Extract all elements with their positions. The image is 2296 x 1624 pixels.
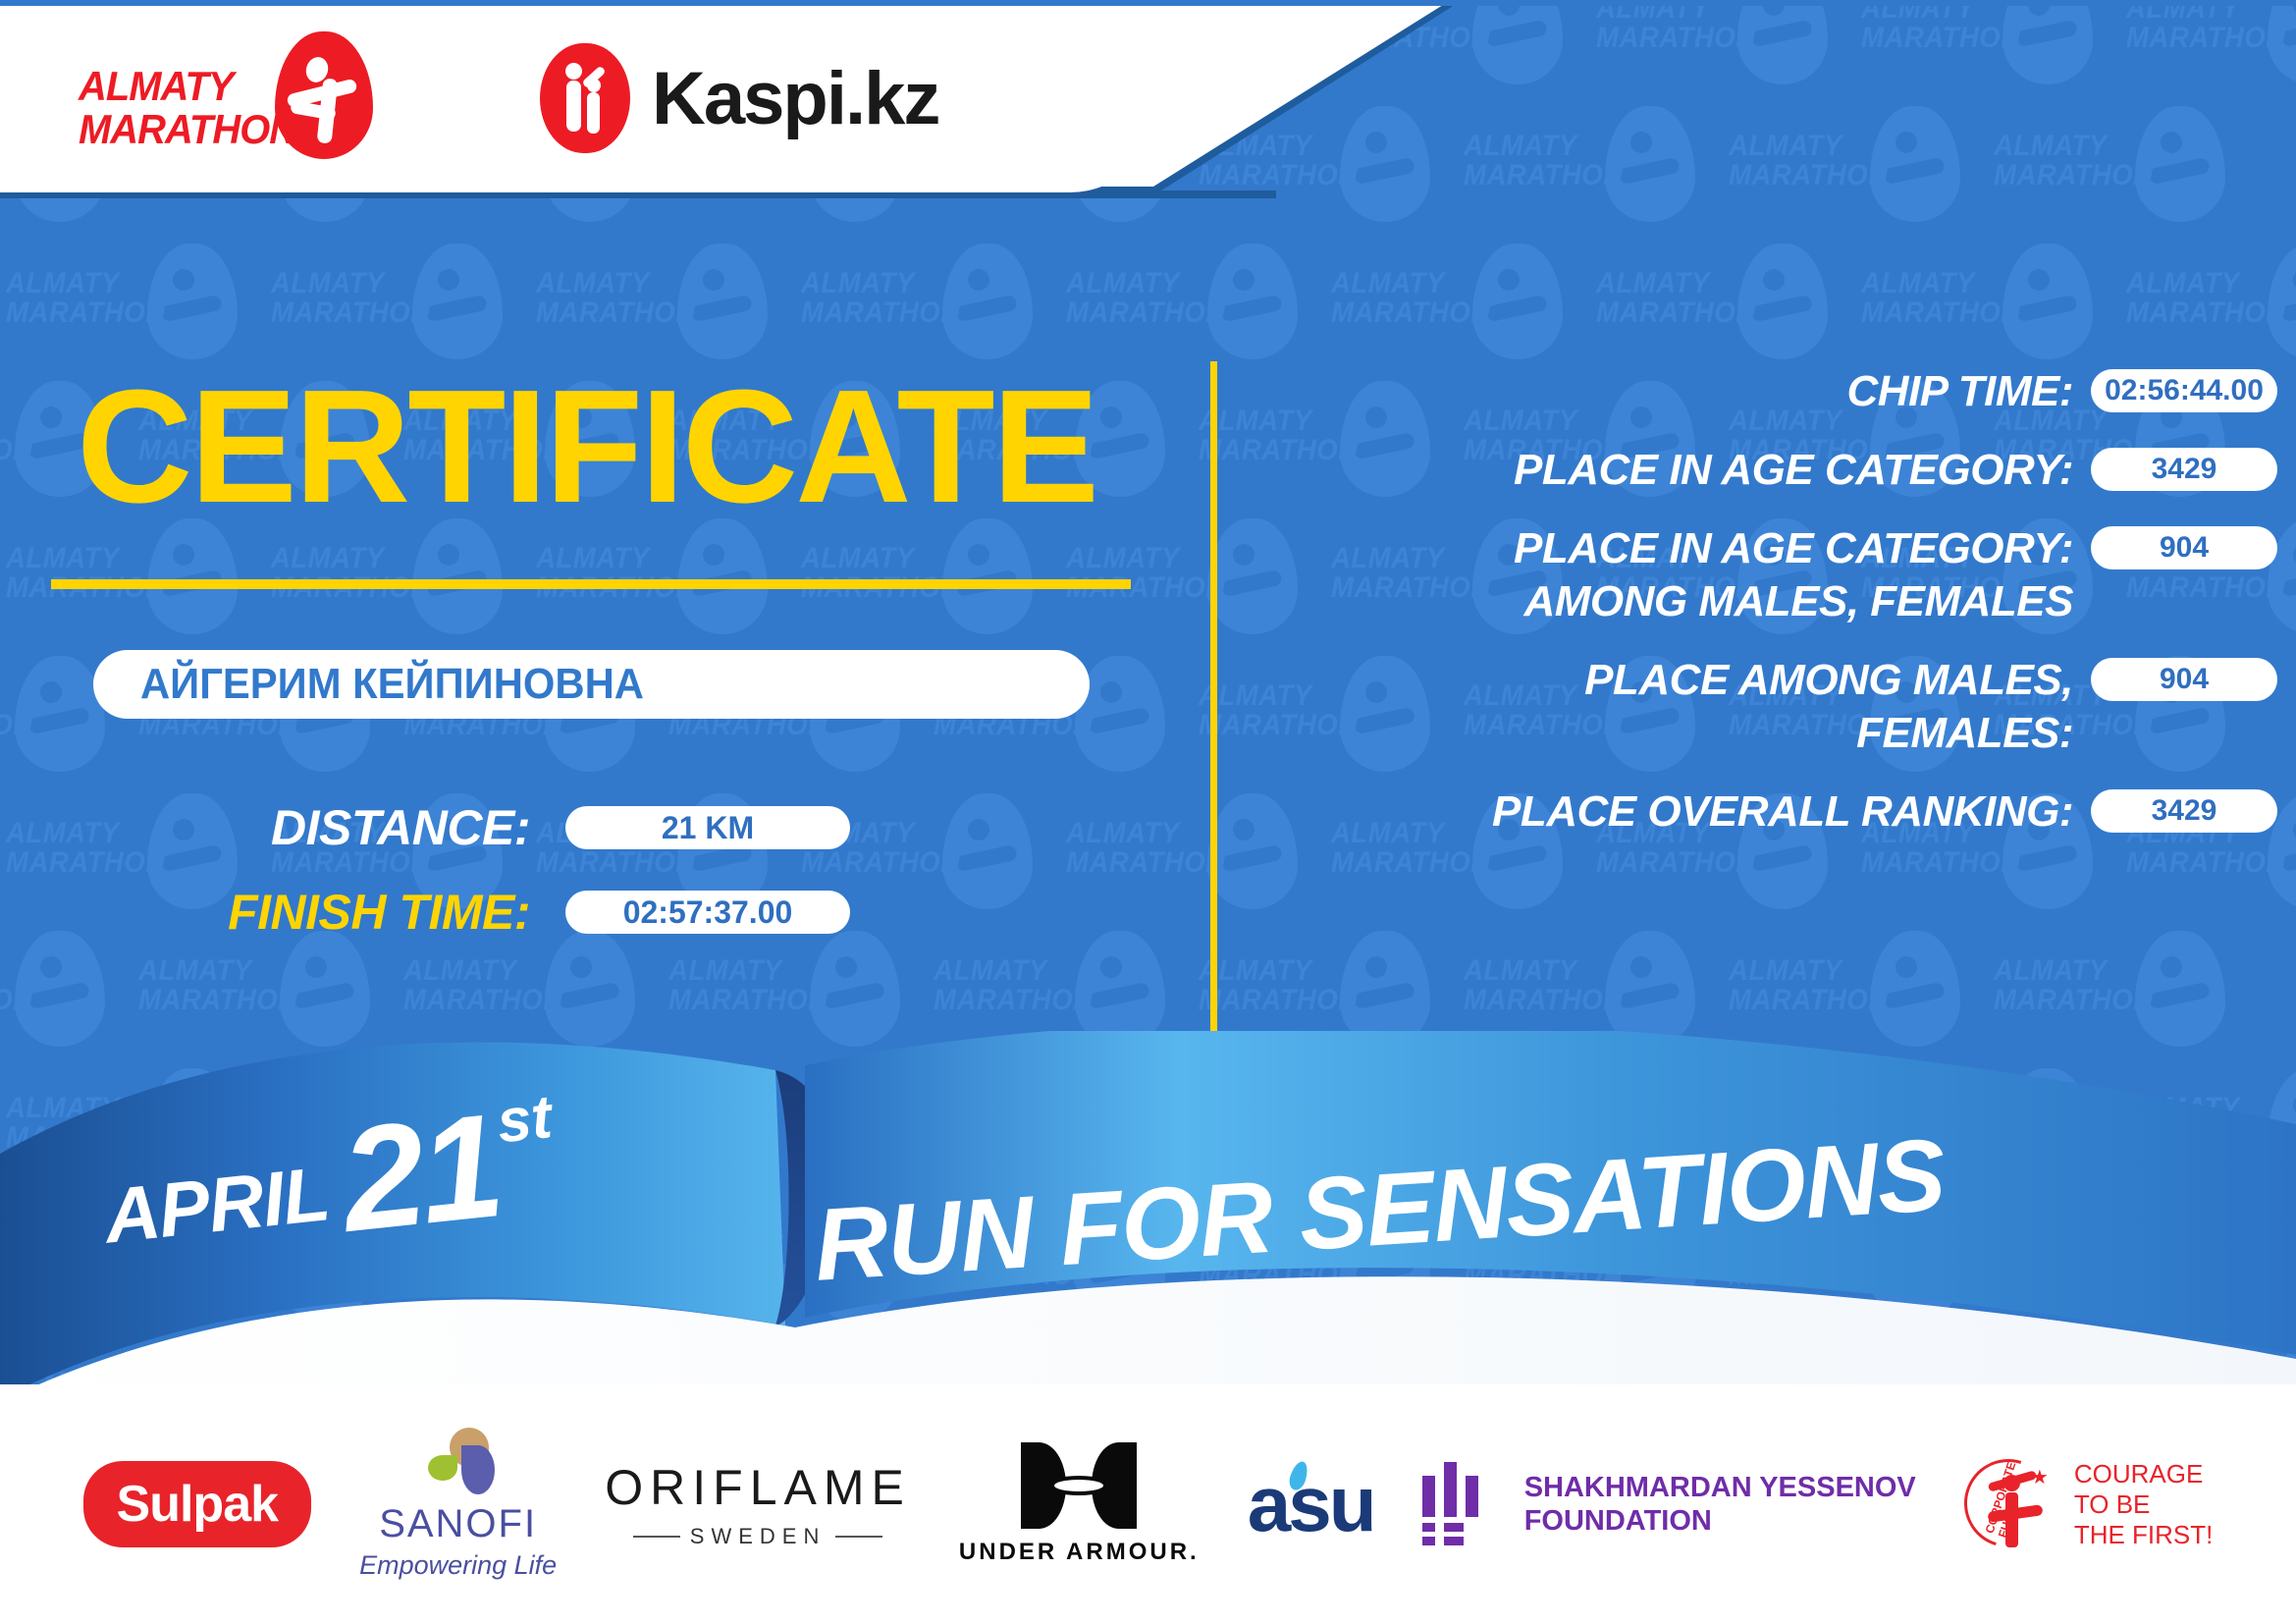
oriflame-rule-right: [835, 1536, 882, 1538]
sponsor-sanofi: SANOFI Empowering Life: [359, 1428, 557, 1581]
courage-line3: THE FIRST!: [2074, 1520, 2214, 1550]
result-label: PLACE OVERALL RANKING:: [1237, 785, 2091, 839]
sanofi-tagline: Empowering Life: [359, 1550, 557, 1581]
page-title: CERTIFICATE: [77, 373, 1096, 520]
courage-fund-icon: CORPORATE FUND ★: [1964, 1453, 2062, 1555]
result-row: PLACE IN AGE CATEGORY:3429: [1237, 444, 2277, 497]
finish-time-value: 02:57:37.00: [565, 891, 850, 934]
oriflame-wordmark: ORIFLAME: [605, 1459, 911, 1516]
asu-text: asu: [1248, 1460, 1374, 1547]
result-row: CHIP TIME:02:56:44.00: [1237, 365, 2277, 418]
certificate-body: CERTIFICATE АЙГЕРИМ КЕЙПИНОВНА DISTANCE:…: [0, 0, 2296, 1624]
finish-time-label: FINISH TIME:: [0, 884, 530, 941]
kaspi-wordmark: Kaspi.kz: [652, 56, 938, 141]
result-label-line1: PLACE AMONG MALES,: [1584, 656, 2073, 704]
sponsor-sulpak: Sulpak: [83, 1461, 312, 1547]
left-stats: DISTANCE: 21 KM FINISH TIME: 02:57:37.00: [0, 785, 991, 954]
sponsor-yessenov: SHAKHMARDAN YESSENOV FOUNDATION: [1422, 1460, 1916, 1548]
result-value: 904: [2091, 526, 2277, 569]
result-row: PLACE OVERALL RANKING:3429: [1237, 785, 2277, 839]
header-top-strip: [0, 0, 2296, 6]
marathon-line: MARATHON: [79, 108, 296, 151]
result-label: PLACE IN AGE CATEGORY:: [1237, 444, 2091, 497]
header-logos: ALMATY MARATHON Kaspi.kz: [79, 39, 938, 157]
distance-row: DISTANCE: 21 KM: [0, 785, 991, 870]
result-label-line1: PLACE IN AGE CATEGORY:: [1514, 524, 2073, 572]
oriflame-subline: SWEDEN: [605, 1524, 911, 1549]
result-row: PLACE AMONG MALES,FEMALES:904: [1237, 654, 2277, 760]
results-list: CHIP TIME:02:56:44.00PLACE IN AGE CATEGO…: [1237, 365, 2277, 864]
result-value: 02:56:44.00: [2091, 369, 2277, 412]
almaty-line: ALMATY: [79, 65, 296, 108]
under-armour-icon: [1021, 1442, 1137, 1529]
oriflame-tagline: SWEDEN: [690, 1524, 827, 1549]
sanofi-icon: [422, 1428, 495, 1496]
almaty-marathon-logo: ALMATY MARATHON: [79, 39, 383, 157]
asu-wordmark: asu: [1248, 1459, 1374, 1549]
distance-value: 21 KM: [565, 806, 850, 849]
sponsor-asu: asu: [1248, 1459, 1374, 1549]
distance-label: DISTANCE:: [0, 799, 530, 856]
result-label-line2: FEMALES:: [1237, 707, 2073, 760]
result-value: 3429: [2091, 448, 2277, 491]
result-label-line2: AMONG MALES, FEMALES: [1237, 575, 2073, 628]
sponsor-courage-fund: CORPORATE FUND ★ COURAGE TO BE THE FIRST…: [1964, 1453, 2214, 1555]
result-label-line1: PLACE OVERALL RANKING:: [1492, 787, 2073, 836]
yessenov-icon: [1422, 1460, 1499, 1548]
yessenov-wordmark: SHAKHMARDAN YESSENOV FOUNDATION: [1524, 1471, 1916, 1538]
courage-line2: TO BE: [2074, 1489, 2214, 1520]
kaspi-people-icon: [540, 43, 630, 153]
title-underline: [51, 579, 1131, 589]
result-row: PLACE IN AGE CATEGORY:AMONG MALES, FEMAL…: [1237, 522, 2277, 628]
result-label: CHIP TIME:: [1237, 365, 2091, 418]
oriflame-rule-left: [633, 1536, 680, 1538]
column-divider: [1210, 361, 1217, 1098]
result-label-line1: CHIP TIME:: [1847, 367, 2073, 415]
courage-line1: COURAGE: [2074, 1459, 2214, 1489]
event-day: 21: [337, 1101, 506, 1244]
participant-name-field: АЙГЕРИМ КЕЙПИНОВНА: [93, 650, 1090, 719]
kaspi-logo: Kaspi.kz: [540, 43, 938, 153]
result-label: PLACE IN AGE CATEGORY:AMONG MALES, FEMAL…: [1237, 522, 2091, 628]
participant-name: АЙГЕРИМ КЕЙПИНОВНА: [140, 660, 644, 709]
sulpak-wordmark: Sulpak: [83, 1461, 312, 1547]
sponsor-oriflame: ORIFLAME SWEDEN: [605, 1459, 911, 1549]
event-month: APRIL: [100, 1149, 333, 1261]
yessenov-line2: FOUNDATION: [1524, 1504, 1916, 1538]
event-day-suffix: st: [494, 1082, 555, 1157]
result-label-line1: PLACE IN AGE CATEGORY:: [1514, 446, 2073, 494]
certificate-page: ALMATYMARATHONALMATYMARATHONALMATYMARATH…: [0, 0, 2296, 1624]
finish-time-row: FINISH TIME: 02:57:37.00: [0, 870, 991, 954]
almaty-marathon-wordmark: ALMATY MARATHON: [79, 65, 296, 151]
result-value: 3429: [2091, 789, 2277, 833]
sponsor-under-armour: UNDER ARMOUR.: [959, 1442, 1200, 1566]
sanofi-wordmark: SANOFI: [359, 1502, 557, 1546]
result-value: 904: [2091, 658, 2277, 701]
yessenov-line1: SHAKHMARDAN YESSENOV: [1524, 1471, 1916, 1504]
courage-fund-wordmark: COURAGE TO BE THE FIRST!: [2074, 1459, 2214, 1550]
under-armour-wordmark: UNDER ARMOUR.: [959, 1539, 1200, 1566]
result-label: PLACE AMONG MALES,FEMALES:: [1237, 654, 2091, 760]
sponsor-bar: Sulpak SANOFI Empowering Life ORIFLAME S…: [0, 1384, 2296, 1624]
